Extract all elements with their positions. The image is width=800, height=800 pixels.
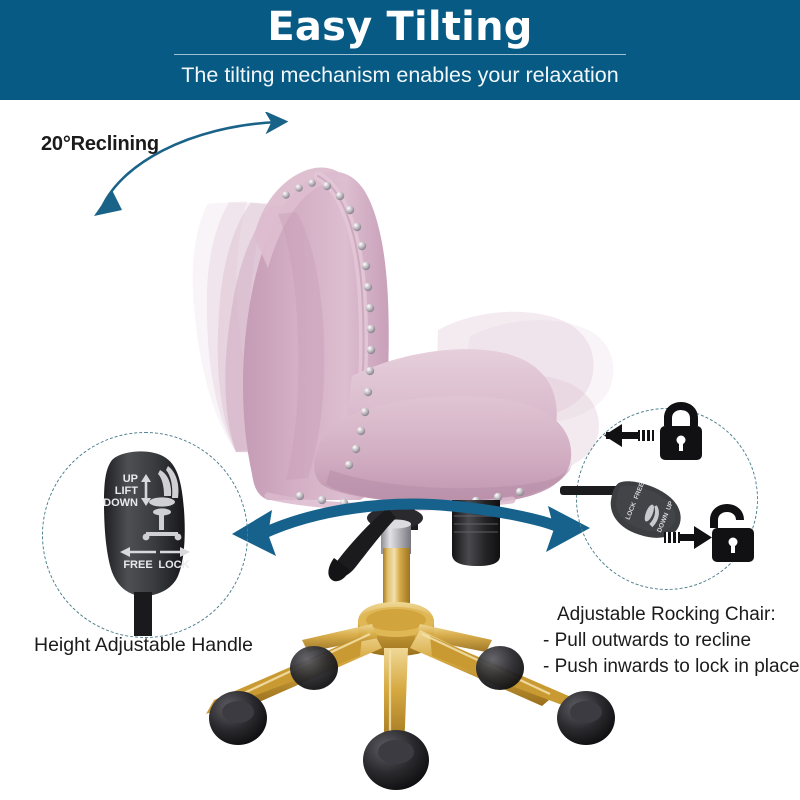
svg-text:FREE: FREE bbox=[123, 559, 152, 571]
page-title: Easy Tilting bbox=[267, 4, 532, 50]
rocking-line-2: - Push inwards to lock in place bbox=[543, 654, 800, 680]
rocking-line-1: - Pull outwards to recline bbox=[543, 628, 800, 654]
header-divider bbox=[174, 54, 626, 55]
rocking-lock-diagram: FREE LOCK UP DOWN bbox=[560, 400, 780, 600]
infographic-canvas: Easy Tilting The tilting mechanism enabl… bbox=[0, 0, 800, 800]
padlock-closed-icon bbox=[660, 402, 702, 460]
height-adjust-handle-icon: UP LIFT DOWN FREE LOCK bbox=[60, 440, 240, 640]
recline-arc-arrow-icon bbox=[78, 112, 308, 222]
svg-text:DOWN: DOWN bbox=[103, 497, 138, 509]
padlock-open-icon bbox=[710, 504, 754, 562]
svg-text:LOCK: LOCK bbox=[158, 559, 189, 571]
rocking-instructions: Adjustable Rocking Chair: - Pull outward… bbox=[543, 602, 800, 680]
arrow-left-icon bbox=[604, 424, 654, 447]
svg-text:LIFT: LIFT bbox=[115, 485, 138, 497]
rocking-title: Adjustable Rocking Chair: bbox=[543, 602, 800, 628]
height-handle-caption: Height Adjustable Handle bbox=[34, 634, 253, 657]
header-subtitle: The tilting mechanism enables your relax… bbox=[181, 62, 618, 88]
header-banner: Easy Tilting The tilting mechanism enabl… bbox=[0, 0, 800, 100]
svg-text:UP: UP bbox=[123, 473, 138, 485]
